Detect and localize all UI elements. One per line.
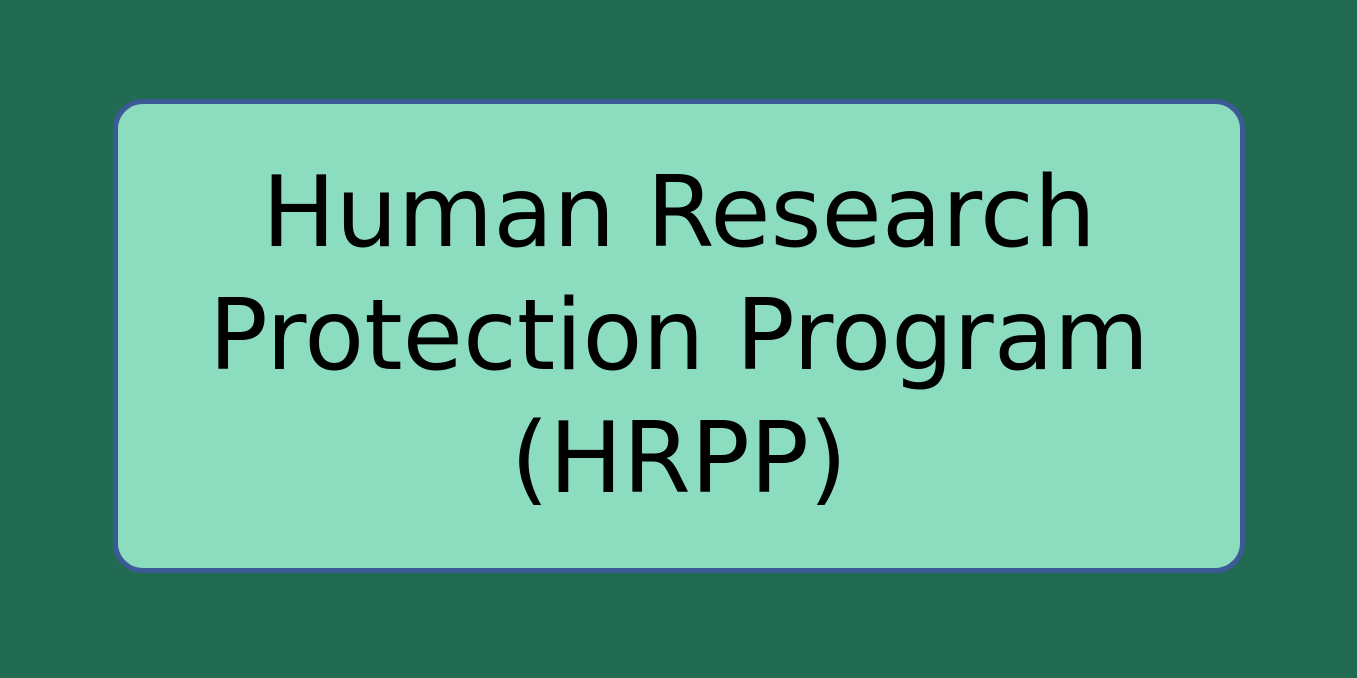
page-background: Human Research Protection Program (HRPP)	[0, 0, 1357, 678]
title-line-2: Protection Program	[209, 275, 1149, 398]
hrpp-title-card[interactable]: Human Research Protection Program (HRPP)	[113, 99, 1245, 573]
page-title: Human Research Protection Program (HRPP)	[185, 152, 1173, 521]
title-line-3: (HRPP)	[209, 398, 1149, 521]
title-line-1: Human Research	[209, 152, 1149, 275]
